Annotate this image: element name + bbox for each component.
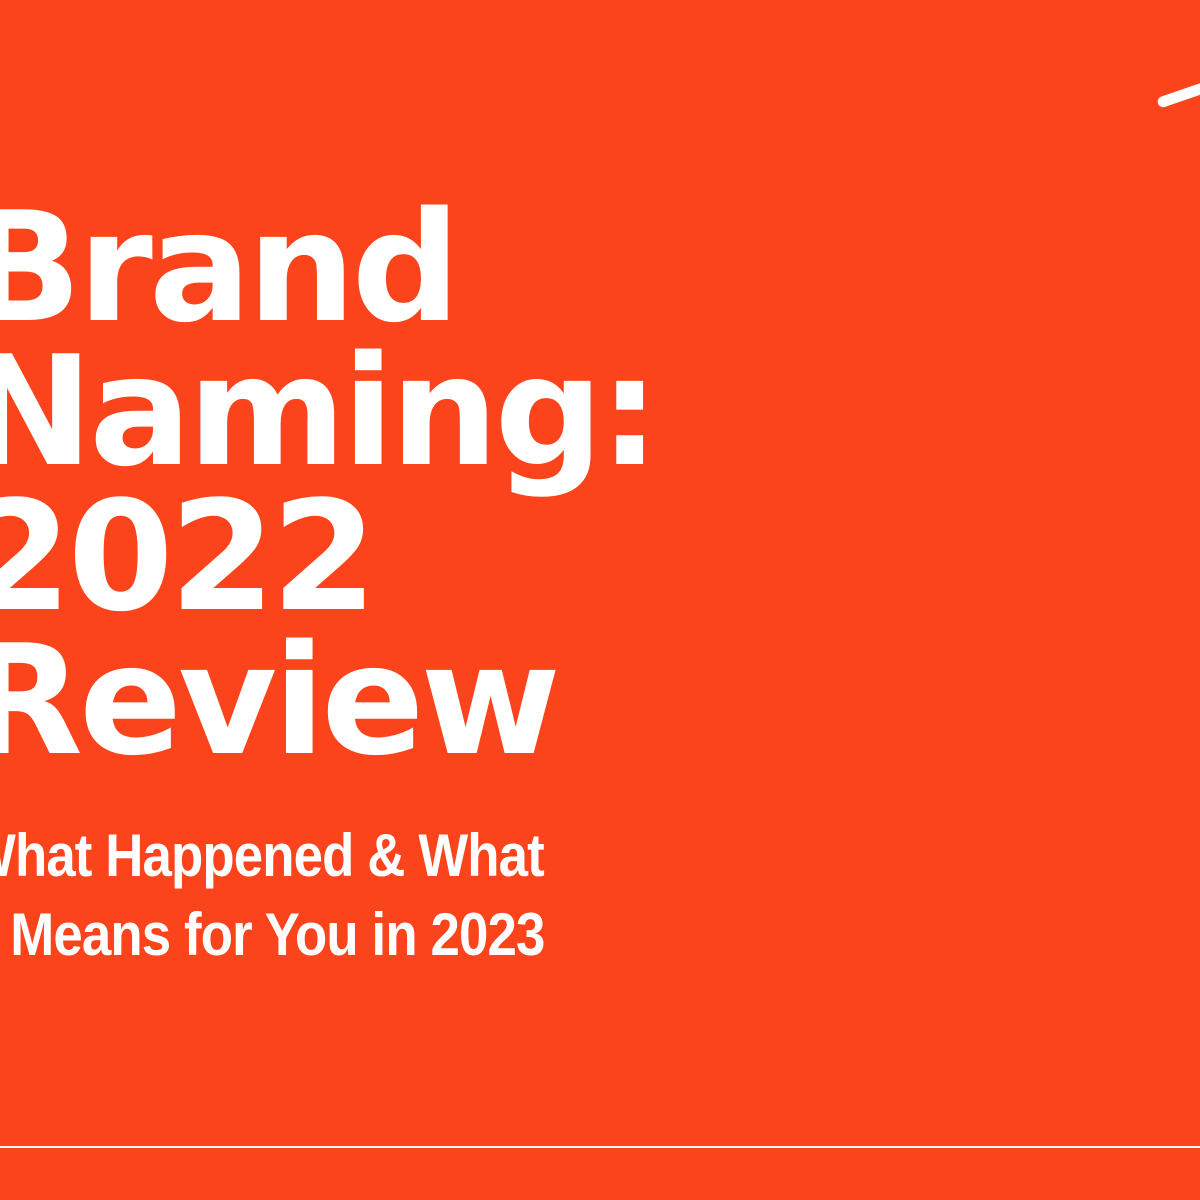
subtitle-line-2: It Means for You in 2023 [0, 895, 635, 974]
title-text-block: Brand Naming: 2022 Review What Happened … [0, 196, 726, 974]
headline-line-3: 2022 [0, 485, 726, 629]
page-title: Brand Naming: 2022 Review [0, 196, 726, 774]
headline-line-1: Brand [0, 196, 726, 340]
headline-line-4: Review [0, 629, 726, 773]
title-slide: Brand Naming: 2022 Review What Happened … [0, 0, 1200, 1200]
page-subtitle: What Happened & What It Means for You in… [0, 816, 635, 974]
footer-divider [0, 1146, 1200, 1148]
diagonal-stroke-icon [1156, 77, 1200, 108]
subtitle-line-1: What Happened & What [0, 816, 635, 895]
headline-line-2: Naming: [0, 340, 726, 484]
